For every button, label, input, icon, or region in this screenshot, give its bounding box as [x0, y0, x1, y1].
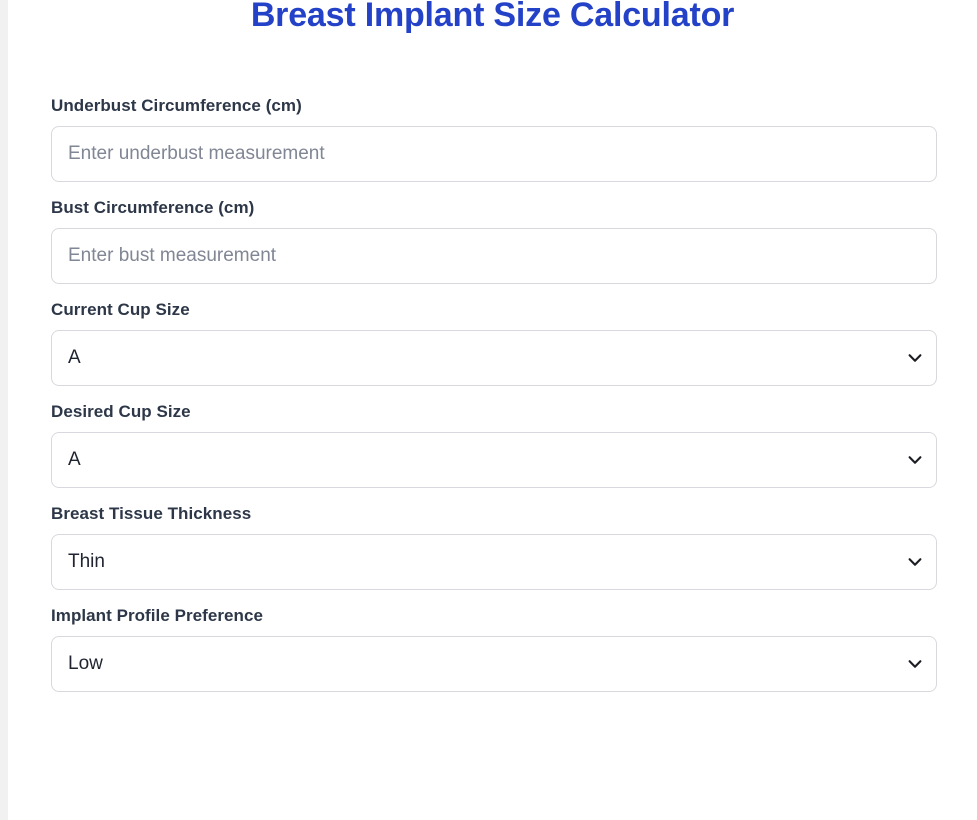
implant-size-form: Underbust Circumference (cm) Bust Circum…	[51, 96, 937, 708]
control-bust-circumference	[51, 228, 937, 284]
breast-tissue-thickness-select[interactable]: Thin	[51, 534, 937, 590]
desired-cup-size-select[interactable]: A	[51, 432, 937, 488]
breast-tissue-thickness-value: Thin	[68, 535, 105, 589]
control-current-cup-size: A	[51, 330, 937, 386]
field-label-bust-circumference: Bust Circumference (cm)	[51, 198, 937, 218]
calculator-card: Breast Implant Size Calculator Underbust…	[8, 0, 977, 820]
field-desired-cup-size: Desired Cup Size A	[51, 402, 937, 488]
control-underbust-circumference	[51, 126, 937, 182]
current-cup-size-value: A	[68, 331, 81, 385]
field-bust-circumference: Bust Circumference (cm)	[51, 198, 937, 284]
field-label-current-cup-size: Current Cup Size	[51, 300, 937, 320]
underbust-circumference-input[interactable]	[51, 126, 937, 182]
current-cup-size-select[interactable]: A	[51, 330, 937, 386]
app-root: Breast Implant Size Calculator Underbust…	[0, 0, 977, 820]
field-label-implant-profile-preference: Implant Profile Preference	[51, 606, 937, 626]
field-label-underbust-circumference: Underbust Circumference (cm)	[51, 96, 937, 116]
field-underbust-circumference: Underbust Circumference (cm)	[51, 96, 937, 182]
desired-cup-size-value: A	[68, 433, 81, 487]
implant-profile-preference-value: Low	[68, 637, 103, 691]
field-label-breast-tissue-thickness: Breast Tissue Thickness	[51, 504, 937, 524]
implant-profile-preference-select[interactable]: Low	[51, 636, 937, 692]
field-label-desired-cup-size: Desired Cup Size	[51, 402, 937, 422]
control-breast-tissue-thickness: Thin	[51, 534, 937, 590]
page-title: Breast Implant Size Calculator	[8, 0, 977, 35]
field-current-cup-size: Current Cup Size A	[51, 300, 937, 386]
field-breast-tissue-thickness: Breast Tissue Thickness Thin	[51, 504, 937, 590]
bust-circumference-input[interactable]	[51, 228, 937, 284]
control-desired-cup-size: A	[51, 432, 937, 488]
field-implant-profile-preference: Implant Profile Preference Low	[51, 606, 937, 692]
control-implant-profile-preference: Low	[51, 636, 937, 692]
